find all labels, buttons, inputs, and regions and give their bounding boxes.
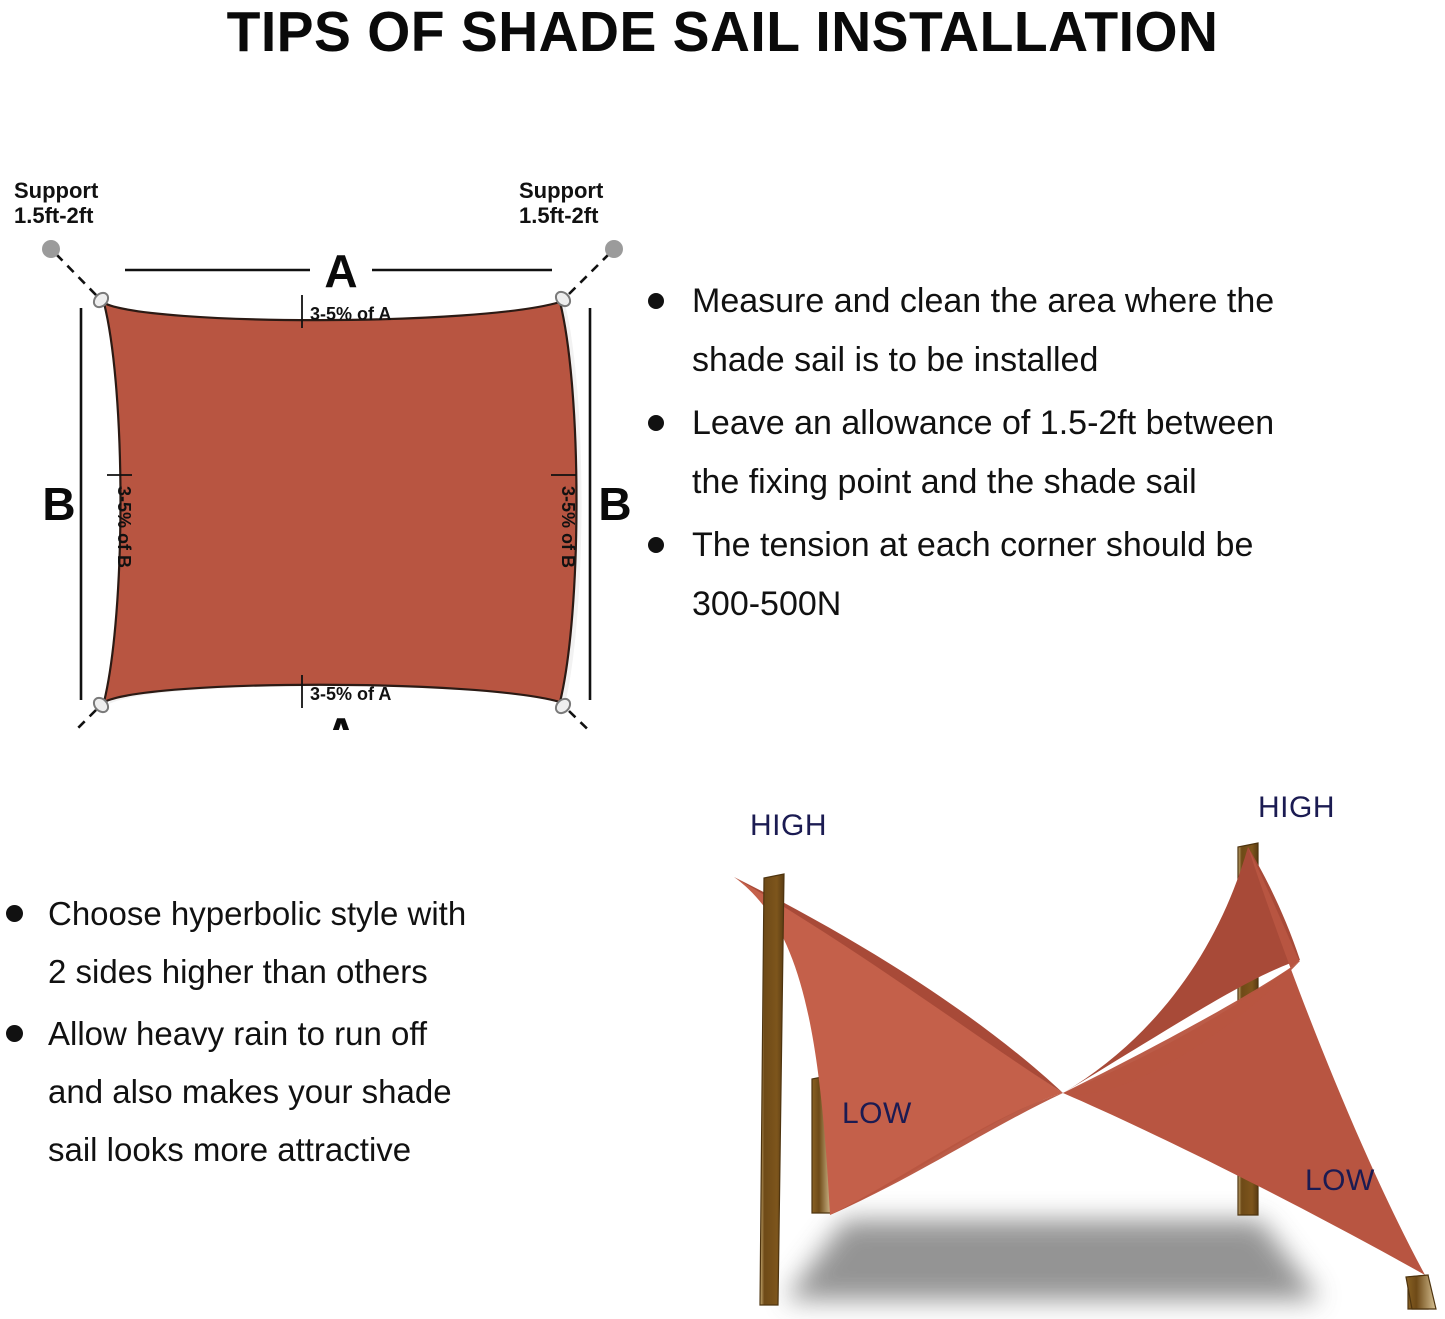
ground-shadow: [785, 1220, 1320, 1300]
curve-b-right-label: 3-5% of B: [558, 486, 578, 568]
dimension-a-top-label: A: [324, 245, 357, 297]
support-label-top-left-line1: Support: [14, 178, 99, 203]
label-low-left: LOW: [842, 1097, 912, 1130]
dimension-a-bottom-label: A: [324, 708, 357, 730]
infographic-page: TIPS OF SHADE SAIL INSTALLATION: [0, 0, 1445, 1319]
tip-line: shade sail is to be installed: [648, 331, 1445, 390]
tip-line: Leave an allowance of 1.5-2ft between: [648, 394, 1445, 453]
list-item: Measure and clean the area where the sha…: [648, 272, 1445, 390]
support-line-top-right: [569, 253, 610, 294]
hyperbolic-shade-sail-diagram: HIGH HIGH LOW LOW: [660, 775, 1445, 1319]
list-item: The tension at each corner should be 300…: [648, 516, 1445, 634]
bullet-icon: [648, 415, 664, 431]
list-item: Leave an allowance of 1.5-2ft between th…: [648, 394, 1445, 512]
support-label-top-right-line1: Support: [519, 178, 604, 203]
support-line-bottom-left: [55, 710, 96, 730]
label-high-right: HIGH: [1258, 791, 1335, 824]
shade-sail-body: [104, 302, 577, 702]
tip-line: 300-500N: [648, 575, 1445, 634]
support-line-bottom-right: [569, 711, 610, 730]
tip-line: the fixing point and the shade sail: [648, 453, 1445, 512]
tips-list-hyperbolic: Choose hyperbolic style with 2 sides hig…: [6, 885, 631, 1183]
tip-line: Allow heavy rain to run off: [6, 1005, 631, 1063]
dimension-b-left-label: B: [42, 478, 75, 530]
bullet-icon: [648, 293, 664, 309]
support-line-top-left: [55, 253, 96, 295]
tip-line: 2 sides higher than others: [6, 943, 631, 1001]
support-label-top-left-line2: 1.5ft-2ft: [14, 203, 94, 228]
dimension-b-right-label: B: [598, 478, 631, 530]
tip-line: The tension at each corner should be: [648, 516, 1445, 575]
label-high-left: HIGH: [750, 809, 827, 842]
tips-list-installation: Measure and clean the area where the sha…: [648, 272, 1445, 638]
post-outer-right-low: [1406, 1275, 1436, 1309]
tip-line: Choose hyperbolic style with: [6, 885, 631, 943]
support-label-top-right-line2: 1.5ft-2ft: [519, 203, 599, 228]
support-dot-top-right: [605, 240, 623, 258]
list-item: Allow heavy rain to run off and also mak…: [6, 1005, 631, 1179]
bullet-icon: [648, 537, 664, 553]
page-title: TIPS OF SHADE SAIL INSTALLATION: [22, 2, 1424, 62]
support-dot-top-left: [42, 240, 60, 258]
tip-line: Measure and clean the area where the: [648, 272, 1445, 331]
bullet-icon: [6, 905, 23, 922]
post-outer-left-high: [760, 874, 784, 1305]
list-item: Choose hyperbolic style with 2 sides hig…: [6, 885, 631, 1001]
tip-line: and also makes your shade: [6, 1063, 631, 1121]
curve-a-bottom-label: 3-5% of A: [310, 684, 391, 704]
tip-line: sail looks more attractive: [6, 1121, 631, 1179]
curve-a-top-label: 3-5% of A: [310, 304, 391, 324]
bullet-icon: [6, 1025, 23, 1042]
rectangular-shade-sail-diagram: A 3-5% of A A 3-5% of A B 3-5% of B B 3-…: [0, 150, 680, 730]
label-low-right: LOW: [1305, 1164, 1375, 1197]
curve-b-left-label: 3-5% of B: [114, 486, 134, 568]
